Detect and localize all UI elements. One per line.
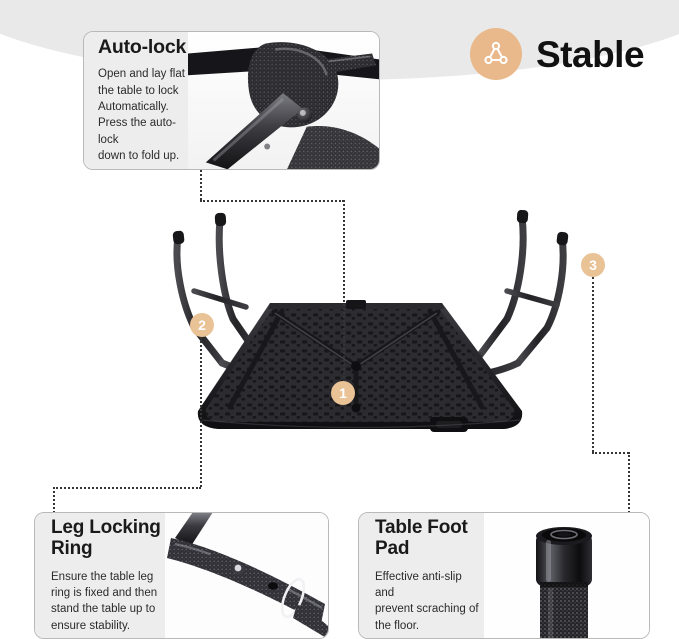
callout-card-table-foot-pad: Table Foot Pad Effective anti-slip and p… bbox=[358, 512, 650, 639]
callout-photo-leg-locking-ring bbox=[165, 513, 328, 638]
callout-photo-auto-lock bbox=[188, 32, 379, 169]
callout-photo-table-foot-pad bbox=[484, 513, 649, 638]
callout-heading-leg-locking-ring: Leg Locking Ring bbox=[51, 517, 165, 560]
callout-body-leg-locking-ring: Ensure the table leg ring is fixed and t… bbox=[51, 569, 165, 634]
connector-legring-seg3 bbox=[53, 487, 55, 513]
marker-1[interactable]: 1 bbox=[331, 381, 355, 405]
connector-autolock-seg1 bbox=[200, 170, 202, 200]
callout-heading-table-foot-pad: Table Foot Pad bbox=[375, 517, 484, 560]
callout-card-leg-locking-ring: Leg Locking Ring Ensure the table leg ri… bbox=[34, 512, 329, 639]
callout-body-table-foot-pad: Effective anti-slip and prevent scrachin… bbox=[375, 569, 484, 634]
stable-badge-icon bbox=[470, 28, 522, 80]
callout-body-auto-lock: Open and lay flat the table to lock Auto… bbox=[98, 66, 188, 164]
connector-autolock-seg2 bbox=[200, 200, 344, 202]
callout-text-table-foot-pad: Table Foot Pad Effective anti-slip and p… bbox=[359, 513, 484, 638]
product-image bbox=[70, 195, 630, 455]
callout-text-leg-locking-ring: Leg Locking Ring Ensure the table leg ri… bbox=[35, 513, 165, 638]
marker-2[interactable]: 2 bbox=[190, 313, 214, 337]
stable-header: Stable bbox=[470, 28, 644, 80]
connector-footpad-seg2 bbox=[592, 452, 629, 454]
stable-title: Stable bbox=[536, 36, 644, 73]
callout-heading-auto-lock: Auto-lock bbox=[98, 37, 188, 59]
connector-legring-seg2 bbox=[53, 487, 201, 489]
marker-3[interactable]: 3 bbox=[581, 253, 605, 277]
callout-card-auto-lock: Auto-lock Open and lay flat the table to… bbox=[83, 31, 380, 170]
infographic-canvas: 1 2 3 Stable Auto-lock Open and lay flat… bbox=[0, 0, 679, 639]
connector-footpad-seg3 bbox=[628, 452, 630, 513]
connector-legring-seg1 bbox=[200, 337, 202, 487]
connector-footpad-seg1 bbox=[592, 277, 594, 452]
connector-autolock-seg3 bbox=[343, 200, 345, 382]
callout-text-auto-lock: Auto-lock Open and lay flat the table to… bbox=[84, 32, 188, 169]
